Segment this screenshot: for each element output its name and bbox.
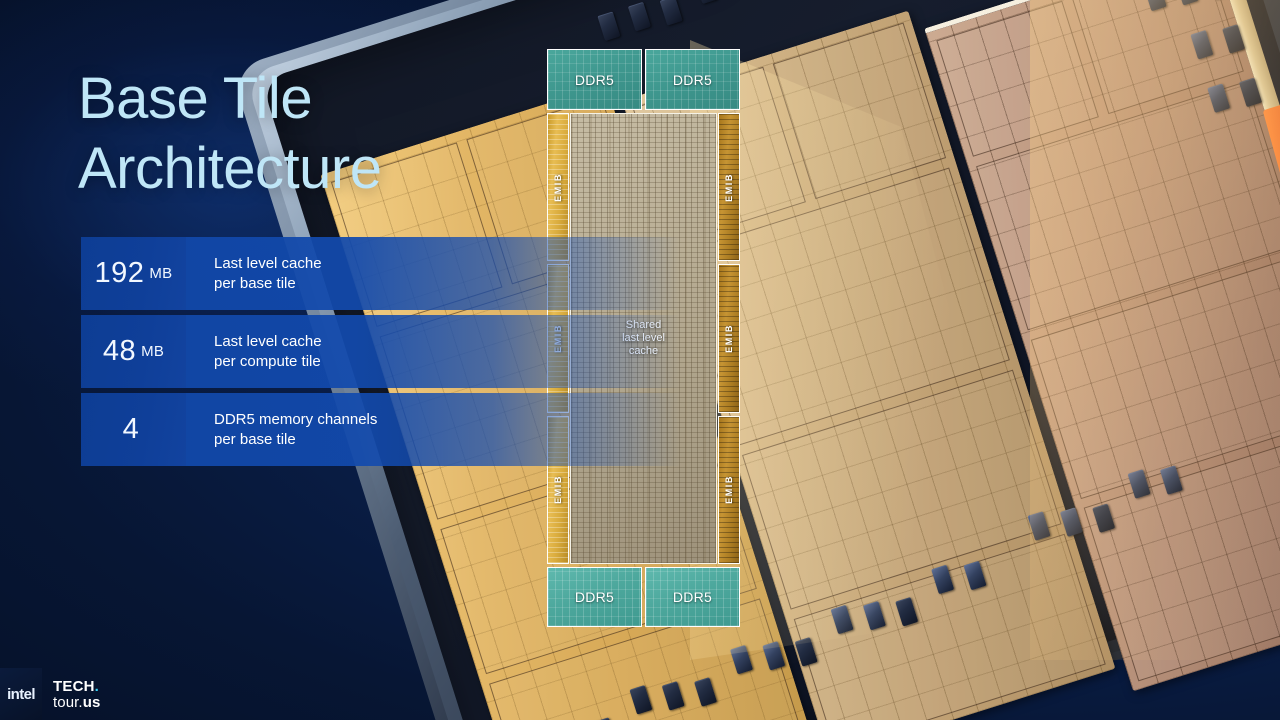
ddr5-block-bottom-right: DDR5 [645, 567, 740, 627]
stat-description-cell: Last level cache per compute tile [186, 315, 681, 388]
stat-description-cell: Last level cache per base tile [186, 237, 681, 310]
stat-row: 4 DDR5 memory channels per base tile [81, 393, 681, 466]
intel-logo-text: intel [7, 686, 35, 703]
stat-unit: MB [141, 343, 164, 360]
tech-tour-accent-dot: . [95, 678, 99, 695]
ddr5-block-top-right: DDR5 [645, 49, 740, 110]
stat-value-cell: 48 MB [81, 315, 186, 388]
tech-tour-line2: tour.us [53, 695, 100, 710]
emib-right-1: EMIB [718, 113, 740, 261]
tech-tour-line1: TECH. [53, 679, 100, 694]
tech-tour-logo: TECH. tour.us [42, 679, 100, 710]
slide-canvas: DDR5 DDR5 EMIB EMIB EMIB Shared last lev… [0, 0, 1280, 720]
stat-description-line1: Last level cache [214, 332, 681, 352]
stat-description-line1: DDR5 memory channels [214, 410, 681, 430]
stat-unit: MB [149, 265, 172, 282]
stat-row: 192 MB Last level cache per base tile [81, 237, 681, 310]
stat-number: 192 [95, 259, 145, 288]
stat-number: 48 [103, 337, 136, 366]
ddr5-block-bottom-left: DDR5 [547, 567, 642, 627]
stat-row: 48 MB Last level cache per compute tile [81, 315, 681, 388]
stat-description-cell: DDR5 memory channels per base tile [186, 393, 681, 466]
page-title-line2: Architecture [78, 134, 598, 204]
footer-logos: intel TECH. tour.us [0, 668, 142, 720]
emib-right-2-label: EMIB [724, 324, 734, 353]
stat-description-line2: per base tile [214, 430, 681, 450]
stat-description-line2: per compute tile [214, 352, 681, 372]
stat-value-cell: 4 [81, 393, 186, 466]
stat-value-cell: 192 MB [81, 237, 186, 310]
page-title-line1: Base Tile [78, 64, 598, 134]
emib-right-1-label: EMIB [724, 173, 734, 202]
tech-tour-tour: tour [53, 694, 78, 711]
intel-logo: intel [0, 668, 42, 720]
stat-number: 4 [123, 415, 140, 444]
stats-list: 192 MB Last level cache per base tile 48… [81, 237, 681, 471]
emib-right-3: EMIB [718, 416, 740, 564]
emib-left-3-label: EMIB [553, 475, 563, 504]
ddr5-row-bottom: DDR5 DDR5 [547, 567, 740, 627]
tech-tour-tech: TECH [53, 678, 95, 695]
page-title: Base Tile Architecture [78, 64, 598, 204]
emib-right-3-label: EMIB [724, 475, 734, 504]
stat-description-line2: per base tile [214, 274, 681, 294]
tech-tour-us: us [83, 694, 101, 711]
emib-column-right: EMIB EMIB EMIB [718, 113, 740, 564]
emib-right-2: EMIB [718, 264, 740, 412]
stat-description-line1: Last level cache [214, 254, 681, 274]
